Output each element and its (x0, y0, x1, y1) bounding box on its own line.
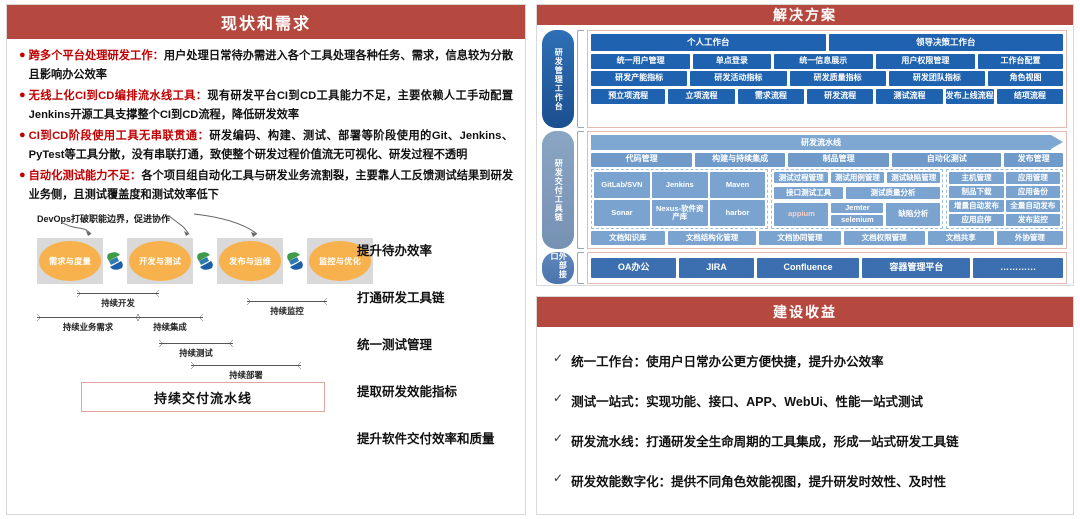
list-item: ✓ 测试一站式：实现功能、接口、APP、WebUi、性能一站式测试 (553, 391, 1057, 410)
outcome-item: 提取研发效能指标 (357, 381, 537, 400)
bracket-icon (577, 131, 584, 249)
solution-diagram: 研发管理工作台 研发交付工具链 外部接口 个人工作台 领导决策工作台 (537, 25, 1073, 289)
tool-col: GitLab/SVN Sonar (594, 172, 650, 226)
bullet-text: 无线上化CI到CD编排流水线工具：现有研发平台CI到CD工具能力不足，主要依赖人… (29, 87, 513, 124)
chip-doc-collab-mgmt[interactable]: 文档协同管理 (759, 231, 840, 245)
tool-incremental-release[interactable]: 增量自动发布 (949, 200, 1003, 212)
benefit-text: 研发效能数字化：提供不同角色效能视图，提升研发时效性、及时性 (571, 471, 946, 490)
chip-leader-workbench[interactable]: 领导决策工作台 (829, 34, 1063, 51)
tool-test-process-mgmt[interactable]: 测试过程管理 (774, 172, 827, 183)
check-icon: ✓ (553, 471, 563, 485)
bracket-icon (577, 30, 584, 128)
pipeline-stage-row: 代码管理 构建与持续集成 制品管理 自动化测试 发布管理 (591, 153, 1063, 167)
measure-continuous-deploy: 持续部署 (191, 362, 301, 381)
chip-role-view[interactable]: 角色视图 (988, 71, 1063, 86)
chip-confluence[interactable]: Confluence (757, 258, 860, 278)
check-icon: ✓ (553, 351, 563, 365)
bullet-heading: 自动化测试能力不足： (29, 170, 142, 182)
devops-stage: 需求与度量 (37, 238, 103, 284)
list-item: ✓ 研发流水线：打通研发全生命周期的工具集成，形成一站式研发工具链 (553, 431, 1057, 450)
tool-col: Jemter selenium (831, 203, 883, 226)
devops-stage-label: 需求与度量 (39, 241, 101, 281)
pipeline-banner: 研发流水线 (591, 135, 1051, 150)
measure-continuous-business: 持续业务需求 (37, 314, 139, 333)
measure-continuous-dev: 持续开发 (77, 290, 159, 309)
chip-doc-share[interactable]: 文档共享 (928, 231, 994, 245)
chip-pre-project-process[interactable]: 预立项流程 (591, 89, 665, 104)
layer-label-management: 研发管理工作台 (542, 30, 574, 128)
chip-rd-process[interactable]: 研发流程 (807, 89, 873, 104)
bullet-list: ● 跨多个平台处理研发工作：用户处理日常待办需进入各个工具处理各种任务、需求，信… (19, 47, 513, 204)
measure-continuous-test: 持续测试 (159, 340, 233, 359)
devops-stage-label: 开发与测试 (129, 241, 191, 281)
bullet-text: 自动化测试能力不足：各个项目组自动化工具与研发业务流割裂，主要靠人工反馈测试结果… (29, 167, 513, 204)
workbench-row-2: 研发产能指标 研发活动指标 研发质量指标 研发团队指标 角色视图 (591, 71, 1063, 86)
list-item: ● 无线上化CI到CD编排流水线工具：现有研发平台CI到CD工具能力不足，主要依… (19, 87, 513, 124)
chip-code-mgmt[interactable]: 代码管理 (591, 153, 692, 167)
chip-more[interactable]: ………… (973, 258, 1063, 278)
tool-full-release[interactable]: 全量自动发布 (1006, 200, 1060, 212)
chip-workbench-config[interactable]: 工作台配置 (978, 54, 1063, 69)
chip-doc-knowledge-base[interactable]: 文档知识库 (591, 231, 665, 245)
tool-app-mgmt[interactable]: 应用管理 (1006, 172, 1060, 184)
outcome-item: 打通研发工具链 (357, 287, 537, 306)
tool-col: 主机管理 制品下载 增量自动发布 应用启停 (949, 172, 1003, 226)
delivery-toolchain-group: 研发流水线 代码管理 构建与持续集成 制品管理 自动化测试 发布管理 (587, 131, 1067, 249)
workbench-top-row: 个人工作台 领导决策工作台 (591, 34, 1063, 51)
layer-label-column: 研发管理工作台 研发交付工具链 外部接口 (542, 30, 574, 284)
document-row: 文档知识库 文档结构化管理 文档协同管理 文档权限管理 文档共享 外协管理 (591, 231, 1063, 245)
test-row-top: 测试过程管理 测试用例管理 测试缺陷管理 (774, 172, 940, 183)
bullet-dot-icon: ● (19, 127, 26, 144)
bullet-dot-icon: ● (19, 87, 26, 104)
infinity-loop-icon (283, 248, 307, 274)
devops-stage-row: 需求与度量 开发与测试 (37, 238, 373, 284)
infinity-loop-icon (103, 248, 127, 274)
current-status-title: 现状和需求 (7, 5, 525, 39)
check-icon: ✓ (553, 431, 563, 445)
bullet-dot-icon: ● (19, 167, 26, 184)
current-status-card: 现状和需求 ● 跨多个平台处理研发工作：用户处理日常待办需进入各个工具处理各种任… (6, 4, 526, 515)
chip-jira[interactable]: JIRA (679, 258, 753, 278)
bracket-column (577, 30, 584, 284)
chip-rd-quality-metric[interactable]: 研发质量指标 (790, 71, 886, 86)
bracket-icon (577, 252, 584, 284)
chip-test-process[interactable]: 测试流程 (876, 89, 942, 104)
chip-closure-process[interactable]: 结项流程 (997, 89, 1063, 104)
chip-rd-team-metric[interactable]: 研发团队指标 (889, 71, 985, 86)
benefit-text: 统一工作台：使用户日常办公更方便快捷，提升办公效率 (571, 351, 884, 370)
right-column: 解决方案 研发管理工作台 研发交付工具链 外部接口 个人工作台 (536, 4, 1074, 515)
outcome-item: 统一测试管理 (357, 334, 537, 353)
current-status-body: ● 跨多个平台处理研发工作：用户处理日常待办需进入各个工具处理各种任务、需求，信… (7, 39, 525, 514)
chip-auto-test[interactable]: 自动化测试 (892, 153, 1001, 167)
list-item: ✓ 研发效能数字化：提供不同角色效能视图，提升研发时效性、及时性 (553, 471, 1057, 490)
tool-api-test[interactable]: 接口测试工具 (774, 187, 842, 198)
chip-unified-info-display[interactable]: 统一信息展示 (774, 54, 873, 69)
chip-outsourcing-mgmt[interactable]: 外协管理 (997, 231, 1063, 245)
chip-sso[interactable]: 单点登录 (693, 54, 770, 69)
chip-user-permission-mgmt[interactable]: 用户权限管理 (876, 54, 975, 69)
tool-sonar[interactable]: Sonar (594, 200, 650, 226)
tool-col: Maven harbor (710, 172, 766, 226)
tool-defect-analysis[interactable]: 缺陷分析 (886, 203, 940, 226)
tool-jmeter[interactable]: Jemter (831, 203, 883, 213)
management-workbench-group: 个人工作台 领导决策工作台 统一用户管理 单点登录 统一信息展示 用户权限管理 … (587, 30, 1067, 128)
chip-personal-workbench[interactable]: 个人工作台 (591, 34, 825, 51)
tool-maven[interactable]: Maven (710, 172, 766, 198)
release-tool-box: 主机管理 制品下载 增量自动发布 应用启停 应用管理 应用备份 全量自动发布 发 (946, 169, 1063, 229)
chip-rd-capacity-metric[interactable]: 研发产能指标 (591, 71, 687, 86)
tool-zone: GitLab/SVN Sonar Jenkins Nexus-软件资产库 Mav… (591, 169, 1063, 229)
tool-jenkins[interactable]: Jenkins (652, 172, 708, 198)
devops-stage-label: 发布与运维 (219, 241, 281, 281)
tool-app-startstop[interactable]: 应用启停 (949, 214, 1003, 226)
benefits-body: ✓ 统一工作台：使用户日常办公更方便快捷，提升办公效率 ✓ 测试一站式：实现功能… (537, 327, 1073, 514)
tool-host-mgmt[interactable]: 主机管理 (949, 172, 1003, 184)
chip-build-ci[interactable]: 构建与持续集成 (695, 153, 785, 167)
measure-continuous-integration: 持续集成 (137, 314, 203, 333)
test-row-bottom: appium Jemter selenium 缺陷分析 (774, 203, 940, 226)
list-item: ● 跨多个平台处理研发工作：用户处理日常待办需进入各个工具处理各种任务、需求，信… (19, 47, 513, 84)
tool-selenium[interactable]: selenium (831, 215, 883, 225)
tool-test-defect-mgmt[interactable]: 测试缺陷管理 (887, 172, 940, 183)
tool-release-monitor[interactable]: 发布监控 (1006, 214, 1060, 226)
tool-gitlab-svn[interactable]: GitLab/SVN (594, 172, 650, 198)
chip-artifact-mgmt[interactable]: 制品管理 (788, 153, 889, 167)
test-tool-box: 测试过程管理 测试用例管理 测试缺陷管理 接口测试工具 测试质量分析 appiu… (771, 169, 943, 229)
tool-col: Jenkins Nexus-软件资产库 (652, 172, 708, 226)
bullet-dot-icon: ● (19, 47, 26, 64)
chip-release-process[interactable]: 发布上线流程 (946, 89, 994, 104)
test-row-mid: 接口测试工具 测试质量分析 (774, 187, 940, 198)
layer-groups: 个人工作台 领导决策工作台 统一用户管理 单点登录 统一信息展示 用户权限管理 … (587, 30, 1067, 284)
list-item: ● 自动化测试能力不足：各个项目组自动化工具与研发业务流割裂，主要靠人工反馈测试… (19, 167, 513, 204)
layer-label-external: 外部接口 (542, 252, 574, 284)
tool-appium[interactable]: appium (774, 203, 828, 226)
workbench-row-3: 预立项流程 立项流程 需求流程 研发流程 测试流程 发布上线流程 结项流程 (591, 89, 1063, 104)
chip-project-process[interactable]: 立项流程 (668, 89, 734, 104)
bullet-text: CI到CD阶段使用工具无串联贯通：研发编码、构建、测试、部署等阶段使用的Git、… (29, 127, 513, 164)
scm-build-tool-box: GitLab/SVN Sonar Jenkins Nexus-软件资产库 Mav… (591, 169, 768, 229)
devops-stage: 开发与测试 (127, 238, 193, 284)
devops-flow-diagram: DevOps打破职能边界，促进协作 需求与度量 (19, 210, 513, 410)
infinity-loop-icon (193, 248, 217, 274)
bullet-heading: 无线上化CI到CD编排流水线工具： (29, 90, 208, 102)
outcome-item: 提升待办效率 (357, 240, 537, 259)
layer-label-toolchain: 研发交付工具链 (542, 131, 574, 249)
bullet-text: 跨多个平台处理研发工作：用户处理日常待办需进入各个工具处理各种任务、需求，信息较… (29, 47, 513, 84)
chip-unified-user-mgmt[interactable]: 统一用户管理 (591, 54, 690, 69)
continuous-delivery-pipeline-box: 持续交付流水线 (81, 382, 325, 412)
bullet-heading: CI到CD阶段使用工具无串联贯通： (29, 130, 210, 142)
benefit-text: 测试一站式：实现功能、接口、APP、WebUi、性能一站式测试 (571, 391, 923, 410)
external-interface-group: OA办公 JIRA Confluence 容器管理平台 ………… (587, 252, 1067, 284)
external-row: OA办公 JIRA Confluence 容器管理平台 ………… (591, 258, 1063, 278)
tool-col: 应用管理 应用备份 全量自动发布 发布监控 (1006, 172, 1060, 226)
slide-root: 现状和需求 ● 跨多个平台处理研发工作：用户处理日常待办需进入各个工具处理各种任… (0, 0, 1080, 519)
tool-test-quality-analysis[interactable]: 测试质量分析 (846, 187, 941, 198)
tool-artifact-download[interactable]: 制品下载 (949, 186, 1003, 198)
chip-oa[interactable]: OA办公 (591, 258, 676, 278)
chip-doc-structured-mgmt[interactable]: 文档结构化管理 (668, 231, 757, 245)
solution-card: 解决方案 研发管理工作台 研发交付工具链 外部接口 个人工作台 (536, 4, 1074, 286)
chip-container-platform[interactable]: 容器管理平台 (862, 258, 970, 278)
outcome-list: 提升待办效率 打通研发工具链 统一测试管理 提取研发效能指标 提升软件交付效率和… (357, 240, 537, 475)
tool-app-backup[interactable]: 应用备份 (1006, 186, 1060, 198)
tool-test-case-mgmt[interactable]: 测试用例管理 (831, 172, 884, 183)
benefits-card: 建设收益 ✓ 统一工作台：使用户日常办公更方便快捷，提升办公效率 ✓ 测试一站式… (536, 296, 1074, 515)
chip-doc-permission-mgmt[interactable]: 文档权限管理 (844, 231, 925, 245)
measure-continuous-monitor: 持续监控 (247, 298, 327, 317)
chip-release-mgmt[interactable]: 发布管理 (1004, 153, 1063, 167)
devops-stage: 发布与运维 (217, 238, 283, 284)
benefits-title: 建设收益 (537, 297, 1073, 327)
benefit-text: 研发流水线：打通研发全生命周期的工具集成，形成一站式研发工具链 (571, 431, 959, 450)
list-item: ✓ 统一工作台：使用户日常办公更方便快捷，提升办公效率 (553, 351, 1057, 370)
workbench-row-1: 统一用户管理 单点登录 统一信息展示 用户权限管理 工作台配置 (591, 54, 1063, 69)
outcome-item: 提升软件交付效率和质量 (357, 428, 537, 447)
tool-nexus[interactable]: Nexus-软件资产库 (652, 200, 708, 226)
list-item: ● CI到CD阶段使用工具无串联贯通：研发编码、构建、测试、部署等阶段使用的Gi… (19, 127, 513, 164)
chip-rd-activity-metric[interactable]: 研发活动指标 (690, 71, 786, 86)
solution-title: 解决方案 (537, 5, 1073, 25)
chip-requirement-process[interactable]: 需求流程 (738, 89, 804, 104)
bullet-heading: 跨多个平台处理研发工作： (29, 50, 164, 62)
check-icon: ✓ (553, 391, 563, 405)
tool-harbor[interactable]: harbor (710, 200, 766, 226)
